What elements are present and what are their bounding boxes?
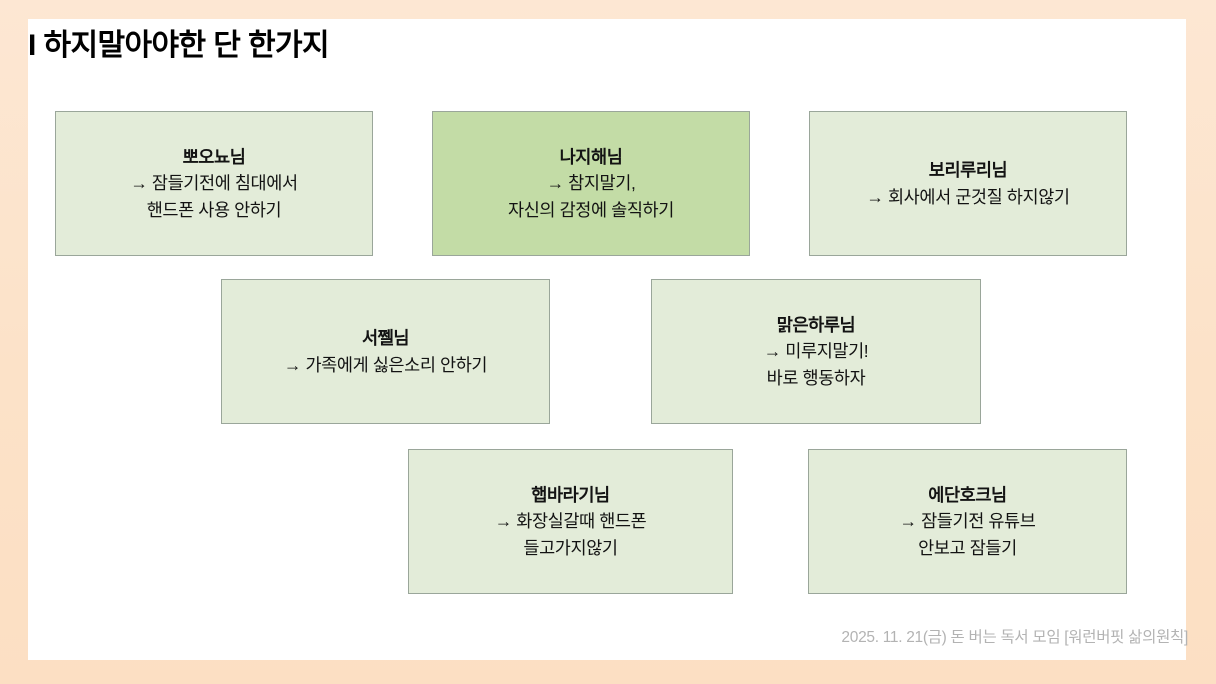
card-boriruri[interactable]: 보리루리님→ 회사에서 군것질 하지않기 bbox=[809, 111, 1127, 256]
card-goal-line: → 잠들기전 유튜브 bbox=[900, 508, 1036, 535]
card-goal-line: → 화장실갈때 핸드폰 bbox=[495, 508, 647, 535]
card-haepbaragi[interactable]: 햅바라기님→ 화장실갈때 핸드폰들고가지않기 bbox=[408, 449, 733, 594]
card-goal-line: → 가족에게 싫은소리 안하기 bbox=[284, 352, 487, 379]
card-goal-line: → 회사에서 군것질 하지않기 bbox=[866, 184, 1069, 211]
card-goal-line: → 참지말기, bbox=[547, 170, 636, 197]
card-goal-line: 자신의 감정에 솔직하기 bbox=[508, 197, 674, 224]
slide-footer-note: 2025. 11. 21(금) 돈 버는 독서 모임 [워런버핏 삶의원칙] bbox=[841, 625, 1188, 647]
card-member-name: 나지해님 bbox=[560, 144, 623, 171]
card-malgeunharu[interactable]: 맑은하루님→ 미루지말기!바로 행동하자 bbox=[651, 279, 981, 424]
card-goal-line: → 잠들기전에 침대에서 bbox=[130, 170, 297, 197]
card-goal-line: 바로 행동하자 bbox=[767, 365, 866, 392]
card-najihae[interactable]: 나지해님→ 참지말기,자신의 감정에 솔직하기 bbox=[432, 111, 750, 256]
card-seojjel[interactable]: 서쩰님→ 가족에게 싫은소리 안하기 bbox=[221, 279, 550, 424]
card-goal-line: 안보고 잠들기 bbox=[918, 535, 1017, 562]
card-member-name: 서쩰님 bbox=[362, 325, 409, 352]
card-bboonyo[interactable]: 뽀오뇨님→ 잠들기전에 침대에서핸드폰 사용 안하기 bbox=[55, 111, 373, 256]
card-member-name: 햅바라기님 bbox=[531, 482, 610, 509]
card-goal-line: → 미루지말기! bbox=[764, 338, 869, 365]
card-goal-line: 핸드폰 사용 안하기 bbox=[147, 197, 282, 224]
card-member-name: 뽀오뇨님 bbox=[183, 144, 246, 171]
card-goal-line: 들고가지않기 bbox=[523, 535, 617, 562]
slide-outer-frame: I 하지말아야한 단 한가지 뽀오뇨님→ 잠들기전에 침대에서핸드폰 사용 안하… bbox=[0, 0, 1216, 684]
card-member-name: 에단호크님 bbox=[928, 482, 1007, 509]
card-member-name: 맑은하루님 bbox=[777, 312, 856, 339]
card-ethanhawke[interactable]: 에단호크님→ 잠들기전 유튜브안보고 잠들기 bbox=[808, 449, 1127, 594]
card-member-name: 보리루리님 bbox=[929, 157, 1008, 184]
slide-title: I 하지말아야한 단 한가지 bbox=[28, 27, 329, 65]
